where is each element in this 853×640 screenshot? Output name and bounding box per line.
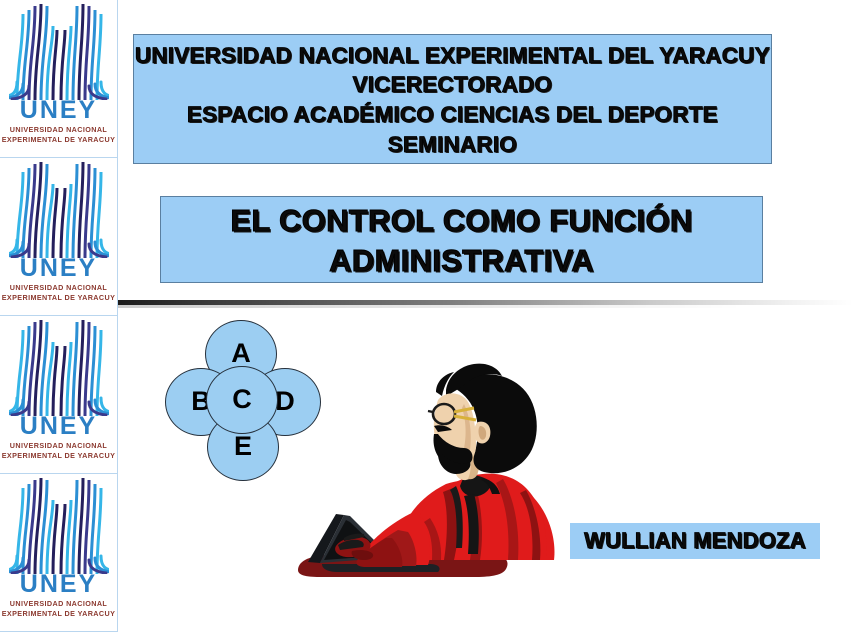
logo-tile: UNEY UNIVERSIDAD NACIONAL EXPERIMENTAL D… [0, 0, 118, 158]
logo-subtitle-line2: EXPERIMENTAL DE YARACUY [0, 451, 117, 460]
header-line-4: SEMINARIO [388, 130, 517, 160]
logo-subtitle-line1: UNIVERSIDAD NACIONAL [0, 599, 117, 608]
logo-subtitle-line1: UNIVERSIDAD NACIONAL [0, 441, 117, 450]
uney-logo-mark [9, 4, 109, 100]
bubble-e-label: E [234, 431, 252, 462]
bubble-c[interactable]: C [206, 366, 278, 434]
logo-tile: UNEY UNIVERSIDAD NACIONAL EXPERIMENTAL D… [0, 474, 118, 632]
uney-logo-mark [9, 162, 109, 258]
header-line-2: VICERECTORADO [353, 70, 553, 100]
header-line-3: ESPACIO ACADÉMICO CIENCIAS DEL DEPORTE [187, 100, 718, 130]
logo-subtitle-line2: EXPERIMENTAL DE YARACUY [0, 135, 117, 144]
page-title: EL CONTROL COMO FUNCIÓN ADMINISTRATIVA [157, 201, 766, 280]
uney-logo-mark [9, 320, 109, 416]
bubble-c-label: C [232, 384, 252, 415]
man-working-on-laptop-illustration [278, 348, 580, 588]
logo-tile: UNEY UNIVERSIDAD NACIONAL EXPERIMENTAL D… [0, 158, 118, 316]
presentation-title-box: EL CONTROL COMO FUNCIÓN ADMINISTRATIVA [160, 196, 763, 283]
author-name: WULLIAN MENDOZA [584, 528, 806, 554]
logo-subtitle-line1: UNIVERSIDAD NACIONAL [0, 283, 117, 292]
header-line-1: UNIVERSIDAD NACIONAL EXPERIMENTAL DEL YA… [135, 41, 770, 71]
logo-subtitle-line2: EXPERIMENTAL DE YARACUY [0, 609, 117, 618]
bubble-a-label: A [231, 338, 251, 369]
horizontal-divider-shadow [118, 305, 853, 308]
logo-wordmark: UNEY [0, 414, 117, 439]
logo-wordmark: UNEY [0, 256, 117, 281]
institution-header-box: UNIVERSIDAD NACIONAL EXPERIMENTAL DEL YA… [133, 34, 772, 164]
logo-sidebar: UNEY UNIVERSIDAD NACIONAL EXPERIMENTAL D… [0, 0, 118, 640]
logo-wordmark: UNEY [0, 98, 117, 123]
author-name-badge: WULLIAN MENDOZA [570, 523, 820, 559]
logo-tile: UNEY UNIVERSIDAD NACIONAL EXPERIMENTAL D… [0, 316, 118, 474]
logo-subtitle-line2: EXPERIMENTAL DE YARACUY [0, 293, 117, 302]
logo-subtitle-line1: UNIVERSIDAD NACIONAL [0, 125, 117, 134]
uney-logo-mark [9, 478, 109, 574]
bubble-d-label: D [275, 386, 295, 417]
logo-wordmark: UNEY [0, 572, 117, 597]
